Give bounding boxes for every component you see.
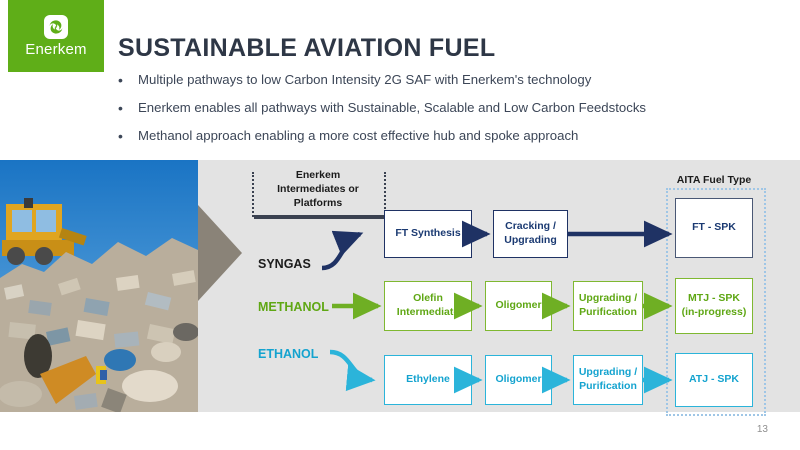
list-item: • Multiple pathways to low Carbon Intens… bbox=[118, 72, 758, 89]
process-box-upgrading-purification-methanol[interactable]: Upgrading / Purification bbox=[573, 281, 643, 331]
process-box-cracking-upgrading[interactable]: Cracking / Upgrading bbox=[493, 210, 568, 258]
fuel-box-atj-spk-label: ATJ - SPK bbox=[689, 373, 739, 387]
process-box-ft-synthesis-label: FT Synthesis bbox=[395, 227, 460, 241]
feedstock-label-syngas: SYNGAS bbox=[258, 257, 311, 271]
feedstock-label-ethanol: ETHANOL bbox=[258, 347, 318, 361]
process-box-upgrading-purification-ethanol[interactable]: Upgrading / Purification bbox=[573, 355, 643, 405]
bullet-text: Methanol approach enabling a more cost e… bbox=[138, 128, 758, 145]
upgrading-ethanol-line2: Purification bbox=[579, 380, 637, 394]
upgrading-ethanol-line1: Upgrading / bbox=[579, 366, 637, 380]
bullet-list: • Multiple pathways to low Carbon Intens… bbox=[118, 72, 758, 155]
bullet-text: Multiple pathways to low Carbon Intensit… bbox=[138, 72, 758, 89]
photo-arrow-point bbox=[198, 205, 242, 301]
bullet-glyph: • bbox=[118, 128, 138, 145]
feedstock-label-methanol: METHANOL bbox=[258, 300, 329, 314]
page-number: 13 bbox=[757, 424, 768, 435]
intermediates-group-underline bbox=[254, 215, 384, 219]
upgrading-methanol-line2: Purification bbox=[579, 306, 637, 320]
swirl-icon bbox=[44, 15, 68, 39]
fuel-box-atj-spk[interactable]: ATJ - SPK bbox=[675, 353, 753, 407]
process-box-oligomer-ethanol[interactable]: Oligomer bbox=[485, 355, 552, 405]
process-box-oligomer-methanol[interactable]: Oligomer bbox=[485, 281, 552, 331]
process-box-ft-synthesis[interactable]: FT Synthesis bbox=[384, 210, 472, 258]
bullet-glyph: • bbox=[118, 100, 138, 117]
fuel-box-ft-spk[interactable]: FT - SPK bbox=[675, 198, 753, 258]
process-box-cracking-line1: Cracking / bbox=[505, 220, 556, 234]
upgrading-methanol-line1: Upgrading / bbox=[579, 292, 637, 306]
landfill-photo bbox=[0, 160, 198, 412]
brand-logo: Enerkem bbox=[8, 0, 104, 72]
process-box-oligomer-methanol-label: Oligomer bbox=[495, 299, 541, 313]
process-box-olefin-line1: Olefin bbox=[413, 292, 443, 306]
page-title: SUSTAINABLE AVIATION FUEL bbox=[118, 34, 495, 63]
intermediates-group-label-line3: Platforms bbox=[252, 196, 384, 210]
process-box-oligomer-ethanol-label: Oligomer bbox=[495, 373, 541, 387]
brand-name: Enerkem bbox=[25, 42, 86, 57]
fuel-box-mtj-line2: (in-progress) bbox=[682, 306, 747, 320]
fuel-box-ft-spk-label: FT - SPK bbox=[692, 221, 736, 235]
intermediates-group-label: Enerkem Intermediates or Platforms bbox=[252, 168, 384, 211]
bullet-text: Enerkem enables all pathways with Sustai… bbox=[138, 100, 758, 117]
fuel-type-group-label: AITA Fuel Type bbox=[648, 174, 780, 186]
bullet-glyph: • bbox=[118, 72, 138, 89]
process-box-ethylene-label: Ethylene bbox=[406, 373, 450, 387]
intermediates-group-label-line1: Enerkem bbox=[252, 168, 384, 182]
process-box-olefin-intermediate[interactable]: Olefin Intermediate bbox=[384, 281, 472, 331]
fuel-box-mtj-line1: MTJ - SPK bbox=[688, 292, 740, 306]
intermediates-group-label-line2: Intermediates or bbox=[252, 182, 384, 196]
process-box-ethylene[interactable]: Ethylene bbox=[384, 355, 472, 405]
list-item: • Enerkem enables all pathways with Sust… bbox=[118, 100, 758, 117]
process-box-cracking-line2: Upgrading bbox=[504, 234, 557, 248]
process-box-olefin-line2: Intermediate bbox=[397, 306, 459, 320]
fuel-box-mtj-spk[interactable]: MTJ - SPK (in-progress) bbox=[675, 278, 753, 334]
list-item: • Methanol approach enabling a more cost… bbox=[118, 128, 758, 145]
